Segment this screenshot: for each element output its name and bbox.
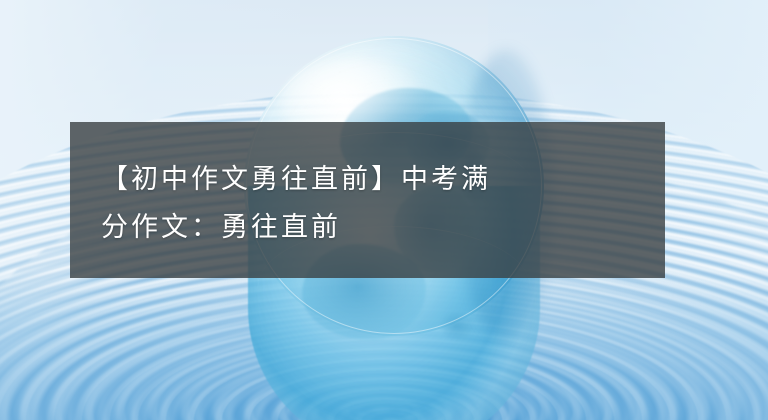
caption-line-1: 【初中作文勇往直前】中考满 <box>70 149 665 203</box>
image-banner: 【初中作文勇往直前】中考满 分作文：勇往直前 <box>0 0 768 420</box>
caption-overlay: 【初中作文勇往直前】中考满 分作文：勇往直前 <box>70 122 665 278</box>
caption-line-2: 分作文：勇往直前 <box>70 203 665 251</box>
